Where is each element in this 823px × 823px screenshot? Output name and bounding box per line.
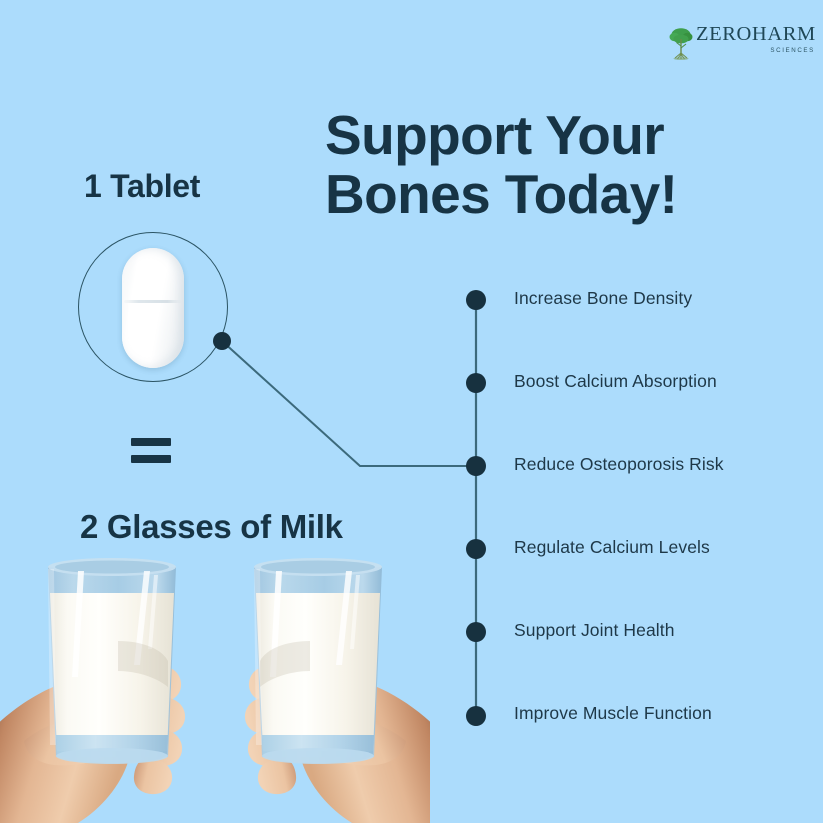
brand-wordmark: ZEROHARM SCIENCES xyxy=(696,24,816,54)
hands-holding-milk-glasses-photo xyxy=(0,545,430,823)
tablet-label: 1 Tablet xyxy=(84,168,200,205)
benefit-label: Increase Bone Density xyxy=(514,288,692,309)
headline-line-1: Support Your xyxy=(325,106,745,165)
benefit-item: Support Joint Health xyxy=(458,610,788,693)
benefit-label: Regulate Calcium Levels xyxy=(514,537,710,558)
brand-name: ZEROHARM xyxy=(696,24,816,45)
benefit-item: Increase Bone Density xyxy=(458,278,788,361)
benefit-item: Reduce Osteoporosis Risk xyxy=(458,444,788,527)
milk-label: 2 Glasses of Milk xyxy=(80,508,343,546)
benefit-label: Improve Muscle Function xyxy=(514,703,712,724)
leader-line xyxy=(222,341,476,466)
infographic-canvas: ZEROHARM SCIENCES Support Your Bones Tod… xyxy=(0,0,823,823)
benefit-item: Improve Muscle Function xyxy=(458,693,788,776)
equals-sign xyxy=(131,438,171,468)
benefit-label: Reduce Osteoporosis Risk xyxy=(514,454,724,475)
benefit-item: Regulate Calcium Levels xyxy=(458,527,788,610)
page-title: Support Your Bones Today! xyxy=(325,106,745,225)
benefit-label: Boost Calcium Absorption xyxy=(514,371,717,392)
equals-bar-top xyxy=(131,438,171,446)
equals-bar-bottom xyxy=(131,455,171,463)
headline-line-2: Bones Today! xyxy=(325,165,745,224)
tree-icon xyxy=(668,26,694,60)
benefits-list: Increase Bone Density Boost Calcium Abso… xyxy=(458,278,788,776)
milk-glass-right xyxy=(254,558,382,764)
brand-logo: ZEROHARM SCIENCES xyxy=(668,24,808,68)
benefit-item: Boost Calcium Absorption xyxy=(458,361,788,444)
brand-tagline: SCIENCES xyxy=(770,48,814,54)
benefit-label: Support Joint Health xyxy=(514,620,675,641)
tablet-capsule-icon xyxy=(122,248,184,368)
milk-glass-left xyxy=(48,558,176,764)
tablet-score-line xyxy=(124,300,182,303)
